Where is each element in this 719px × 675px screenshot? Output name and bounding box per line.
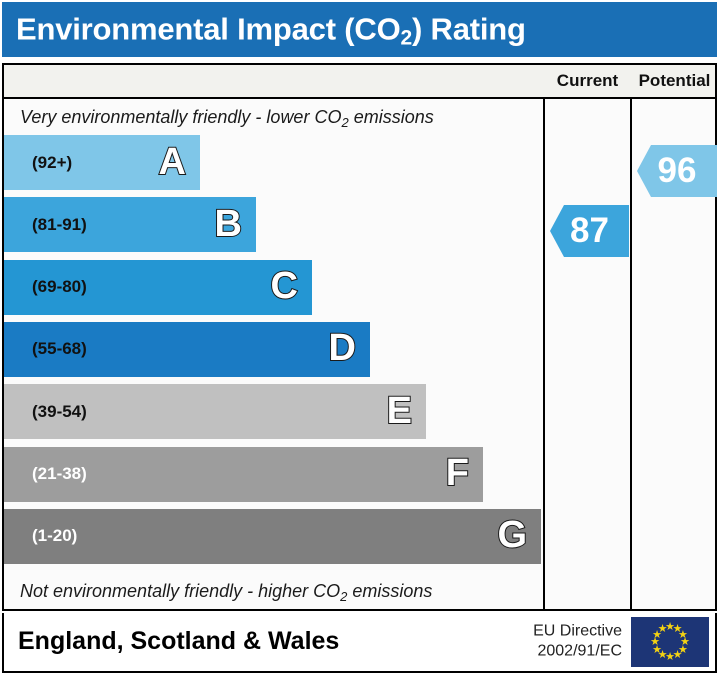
column-divider-potential xyxy=(630,65,632,609)
table-header-row: Current Potential xyxy=(4,65,715,99)
rating-band-e: (39-54)E xyxy=(4,384,426,439)
caption-top-prefix: Very environmentally friendly - lower CO xyxy=(20,107,341,127)
potential-rating-value: 96 xyxy=(658,151,697,191)
band-letter-c: C xyxy=(271,267,298,305)
rating-band-f: (21-38)F xyxy=(4,447,483,502)
band-letter-g: G xyxy=(497,517,527,555)
footer-directive: EU Directive 2002/91/EC xyxy=(533,622,622,663)
band-letter-f: F xyxy=(446,454,469,492)
footer-directive-line2: 2002/91/EC xyxy=(533,642,622,662)
caption-bottom-prefix: Not environmentally friendly - higher CO xyxy=(20,581,340,601)
band-letter-e: E xyxy=(387,392,412,430)
column-divider-current xyxy=(543,65,545,609)
rating-band-c: (69-80)C xyxy=(4,260,312,315)
rating-band-a: (92+)A xyxy=(4,135,200,190)
band-letter-d: D xyxy=(329,330,356,368)
current-rating-value: 87 xyxy=(570,211,609,251)
caption-not-friendly: Not environmentally friendly - higher CO… xyxy=(4,573,543,609)
chart-footer: England, Scotland & Wales EU Directive 2… xyxy=(2,613,717,673)
page-title: Environmental Impact (CO2) Rating xyxy=(16,11,526,47)
epc-environmental-impact-chart: Environmental Impact (CO2) Rating Curren… xyxy=(0,0,719,675)
eu-flag-icon xyxy=(631,617,709,667)
column-header-current: Current xyxy=(545,65,630,97)
caption-bottom-subscript: 2 xyxy=(340,589,347,604)
column-header-potential: Potential xyxy=(632,65,717,97)
rating-band-g: (1-20)G xyxy=(4,509,541,564)
rating-bands: (92+)A(81-91)B(69-80)C(55-68)D(39-54)E(2… xyxy=(4,135,543,573)
page-title-suffix: ) Rating xyxy=(412,11,526,46)
caption-top-subscript: 2 xyxy=(341,115,348,130)
caption-bottom-suffix: emissions xyxy=(347,581,432,601)
footer-directive-line1: EU Directive xyxy=(533,622,622,642)
current-rating-marker: 87 xyxy=(550,205,629,257)
page-title-prefix: Environmental Impact (CO xyxy=(16,11,401,46)
rating-band-b: (81-91)B xyxy=(4,197,256,252)
band-range-f: (21-38) xyxy=(32,464,87,484)
rating-band-d: (55-68)D xyxy=(4,322,370,377)
band-range-d: (55-68) xyxy=(32,339,87,359)
band-range-b: (81-91) xyxy=(32,215,87,235)
page-title-subscript: 2 xyxy=(401,26,412,49)
band-letter-b: B xyxy=(215,205,242,243)
band-range-e: (39-54) xyxy=(32,402,87,422)
caption-top-suffix: emissions xyxy=(349,107,434,127)
potential-rating-marker: 96 xyxy=(637,145,717,197)
footer-region-label: England, Scotland & Wales xyxy=(18,627,339,656)
band-letter-a: A xyxy=(159,143,186,181)
band-range-g: (1-20) xyxy=(32,526,77,546)
chart-title-bar: Environmental Impact (CO2) Rating xyxy=(2,2,717,57)
rating-table: Current Potential Very environmentally f… xyxy=(2,63,717,611)
band-range-a: (92+) xyxy=(32,153,72,173)
caption-very-friendly: Very environmentally friendly - lower CO… xyxy=(4,99,543,135)
band-range-c: (69-80) xyxy=(32,277,87,297)
